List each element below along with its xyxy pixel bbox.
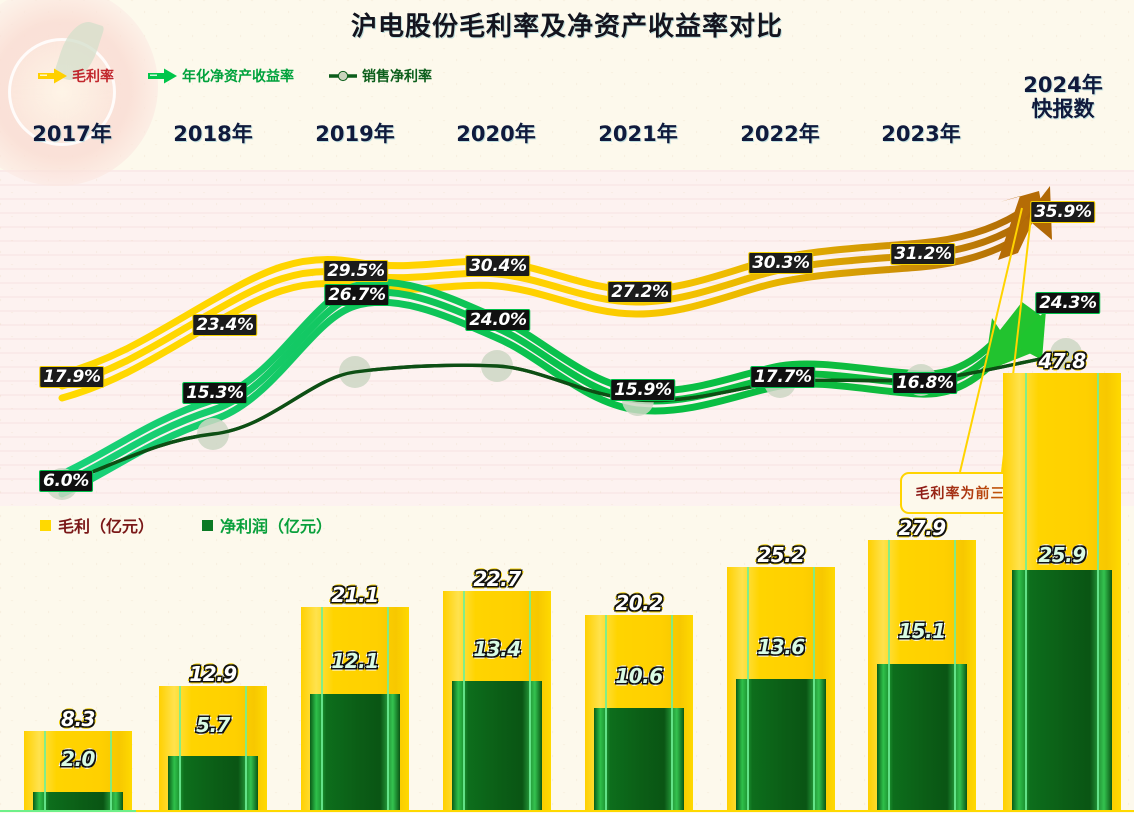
bar-value-net-profit: 13.4	[473, 637, 520, 661]
bar-tick	[463, 591, 465, 811]
x-axis-line	[0, 810, 1134, 812]
bar-value-gross-profit: 8.3	[61, 707, 95, 731]
bar-group-2019[interactable]: 21.1 12.1	[301, 583, 409, 813]
bar-value-net-profit: 2.0	[61, 747, 95, 771]
bar-value-gross-profit: 20.2	[615, 591, 662, 615]
bar-value-net-profit: 15.1	[898, 619, 945, 643]
bar-tick	[954, 540, 956, 811]
bar-value-gross-profit: 27.9	[898, 516, 945, 540]
bar-group-2017[interactable]: 8.3 2.0	[24, 721, 132, 813]
bar-tick	[813, 567, 815, 811]
bar-tick	[321, 607, 323, 811]
bar-tick	[671, 615, 673, 811]
bar-chart-area: 8.3 2.0 12.9 5.7 21.1 12.1 22.7	[0, 0, 1134, 813]
bar-tick	[747, 567, 749, 811]
bar-value-gross-profit: 12.9	[189, 662, 236, 686]
bar-tick	[245, 686, 247, 811]
bar-value-net-profit: 13.6	[757, 635, 804, 659]
bar-group-2021[interactable]: 20.2 10.6	[585, 591, 693, 813]
bar-group-2022[interactable]: 25.2 13.6	[727, 541, 835, 813]
bar-tick	[1097, 373, 1099, 811]
bar-tick	[529, 591, 531, 811]
bar-tick	[888, 540, 890, 811]
bar-tick	[1025, 373, 1027, 811]
bar-value-net-profit: 25.9	[1038, 543, 1085, 567]
bar-value-net-profit: 12.1	[331, 649, 378, 673]
bar-value-gross-profit: 25.2	[757, 543, 804, 567]
bar-tick	[44, 731, 46, 811]
bar-tick	[179, 686, 181, 811]
bar-tick	[110, 731, 112, 811]
bar-value-gross-profit: 22.7	[473, 567, 520, 591]
bar-group-2024[interactable]: 47.8 25.9	[1003, 363, 1121, 813]
bar-tick	[605, 615, 607, 811]
bar-group-2020[interactable]: 22.7 13.4	[443, 565, 551, 813]
bar-value-net-profit: 10.6	[615, 664, 662, 688]
bar-group-2018[interactable]: 12.9 5.7	[159, 663, 267, 813]
bar-value-gross-profit: 47.8	[1038, 349, 1085, 373]
chart-canvas: 沪电股份毛利率及净资产收益率对比 毛利率 年化净资产收益率 销售净利率	[0, 0, 1134, 813]
bar-value-gross-profit: 21.1	[331, 583, 378, 607]
bar-tick	[387, 607, 389, 811]
bar-value-net-profit: 5.7	[196, 713, 230, 737]
bar-group-2023[interactable]: 27.9 15.1	[868, 513, 976, 813]
